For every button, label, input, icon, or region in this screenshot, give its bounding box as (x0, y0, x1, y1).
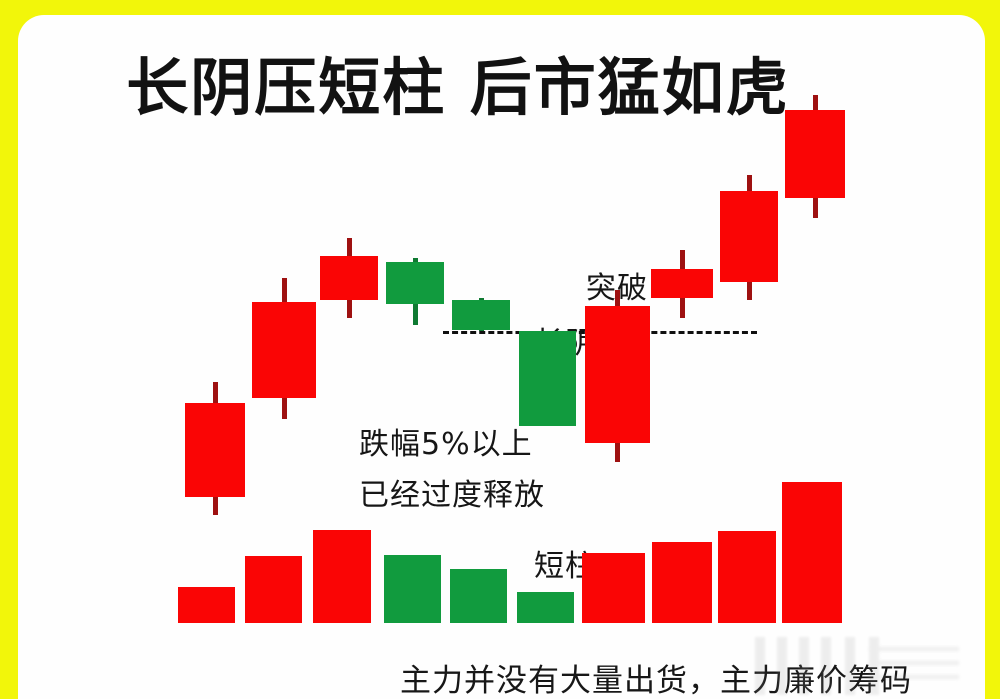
candle-body (585, 306, 650, 443)
candlestick-chart: 突破 长阴 跌幅5%以上 已经过度释放 短柱 (18, 15, 985, 699)
candle-body (785, 110, 845, 198)
volume-bar (384, 555, 441, 623)
candle-body (252, 302, 316, 398)
yellow-frame: 长阴压短柱 后市猛如虎 突破 长阴 跌幅5%以上 已经过度释放 短柱 主力并没有… (0, 0, 1000, 699)
candle-body (720, 191, 778, 282)
annotation-drop-note-line2: 已经过度释放 (359, 470, 545, 514)
candle-body (452, 300, 510, 330)
candle-body (320, 256, 378, 300)
volume-bar (718, 531, 776, 623)
volume-bar (517, 592, 574, 623)
watermark-logo (749, 637, 959, 695)
candle-body (185, 403, 245, 497)
volume-bar (782, 482, 842, 623)
volume-bar (582, 553, 645, 623)
candle-body (386, 262, 444, 304)
volume-bar (245, 556, 302, 623)
volume-bar (652, 542, 712, 623)
volume-bar (450, 569, 507, 623)
volume-bar (178, 587, 235, 623)
candle-body (651, 269, 713, 298)
white-panel: 长阴压短柱 后市猛如虎 突破 长阴 跌幅5%以上 已经过度释放 短柱 主力并没有… (18, 15, 985, 699)
volume-bar (313, 530, 371, 623)
annotation-drop-note-line1: 跌幅5%以上 (359, 419, 533, 463)
candle-body (519, 331, 576, 426)
